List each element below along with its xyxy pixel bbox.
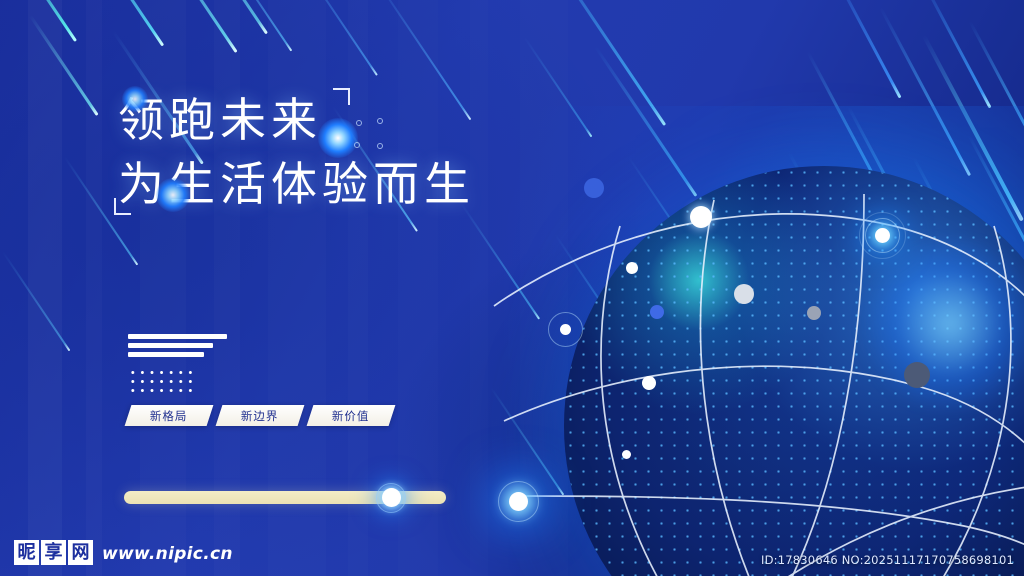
- tag-item-2[interactable]: 新价值: [307, 405, 396, 426]
- tag-label: 新价值: [332, 408, 370, 424]
- ring-dot-icon: [356, 120, 362, 126]
- tag-item-0[interactable]: 新格局: [125, 405, 214, 426]
- headline-line-2: 为生活体验而生: [118, 152, 475, 216]
- poster-canvas: 领跑未来 为生活体验而生 新格局 新边界 新价值 昵 享: [0, 0, 1024, 576]
- headline-block: 领跑未来 为生活体验而生: [118, 88, 475, 217]
- network-node-ring: [498, 481, 539, 522]
- ring-dot-icon: [377, 143, 383, 149]
- stripe-lines-icon: [128, 334, 227, 361]
- tag-label: 新边界: [241, 408, 279, 424]
- watermark: 昵 享 网 www.nipic.cn: [14, 540, 233, 565]
- tag-label: 新格局: [150, 408, 188, 424]
- footer-id-text: ID:17830646 NO:20251117170758698101: [761, 553, 1014, 567]
- dot-grid-icon: [128, 368, 194, 394]
- progress-bar[interactable]: [124, 491, 446, 504]
- tag-list: 新格局 新边界 新价值: [128, 405, 392, 426]
- progress-knob[interactable]: [382, 488, 401, 507]
- ring-dot-icon: [377, 118, 383, 124]
- network-node: [622, 450, 631, 459]
- ring-dot-icon: [354, 142, 360, 148]
- tag-item-1[interactable]: 新边界: [216, 405, 305, 426]
- watermark-logo-char-1: 享: [41, 540, 66, 565]
- watermark-logo-char-0: 昵: [14, 540, 39, 565]
- network-node: [650, 305, 664, 319]
- headline-line-1: 领跑未来: [118, 88, 475, 152]
- watermark-logo: 昵 享 网: [14, 540, 93, 565]
- watermark-logo-char-2: 网: [68, 540, 93, 565]
- watermark-url: www.nipic.cn: [102, 544, 233, 565]
